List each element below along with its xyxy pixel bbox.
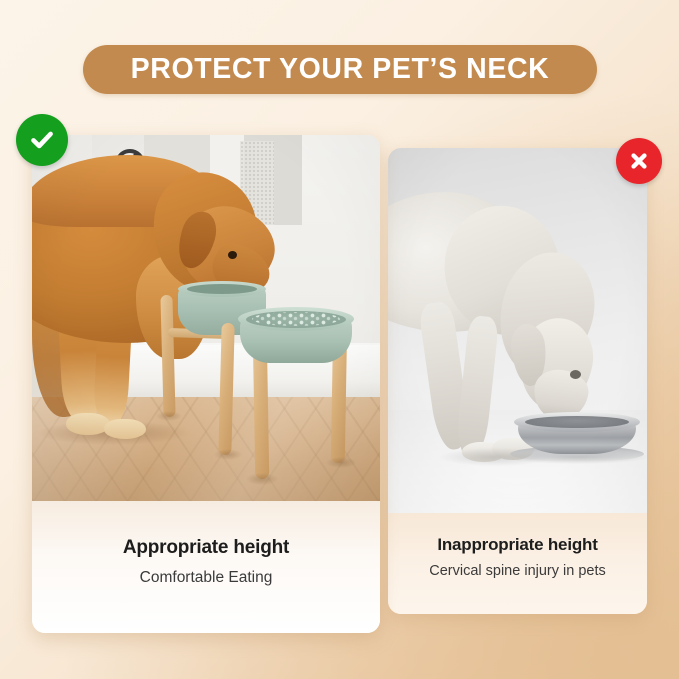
comparison-card-inappropriate: Inappropriate height Cervical spine inju… [388, 148, 647, 614]
caption-subtitle-inappropriate: Cervical spine injury in pets [388, 563, 647, 580]
scene-floor-bowl [388, 148, 647, 513]
caption-inappropriate: Inappropriate height Cervical spine inju… [388, 513, 647, 614]
dog-paw-left [66, 413, 110, 435]
x-circle-icon [616, 138, 662, 184]
photo-inappropriate-height [388, 148, 647, 513]
dog-paw-right [104, 419, 146, 439]
dog-eye [570, 370, 581, 379]
caption-title-inappropriate: Inappropriate height [388, 535, 647, 555]
comparison-card-appropriate: Appropriate height Comfortable Eating [32, 135, 380, 633]
scene-elevated-bowl [32, 135, 380, 501]
caption-subtitle-appropriate: Comfortable Eating [32, 569, 380, 588]
caption-title-appropriate: Appropriate height [32, 537, 380, 560]
dog-eye [228, 251, 237, 259]
steel-bowl-interior [525, 416, 629, 428]
photo-appropriate-height [32, 135, 380, 501]
leg-shadow-1 [156, 411, 182, 421]
leg-shadow-3 [246, 473, 278, 485]
check-circle-icon [16, 114, 68, 166]
infographic-root: PROTECT YOUR PET’S NECK [0, 0, 679, 679]
green-bowl-rear-interior [187, 284, 257, 294]
caption-appropriate: Appropriate height Comfortable Eating [32, 501, 380, 633]
leg-shadow-4 [326, 457, 356, 468]
header-banner: PROTECT YOUR PET’S NECK [83, 45, 597, 94]
leg-shadow-2 [214, 449, 242, 460]
page-title: PROTECT YOUR PET’S NECK [131, 55, 550, 84]
slow-feeder-nubs [252, 312, 340, 326]
